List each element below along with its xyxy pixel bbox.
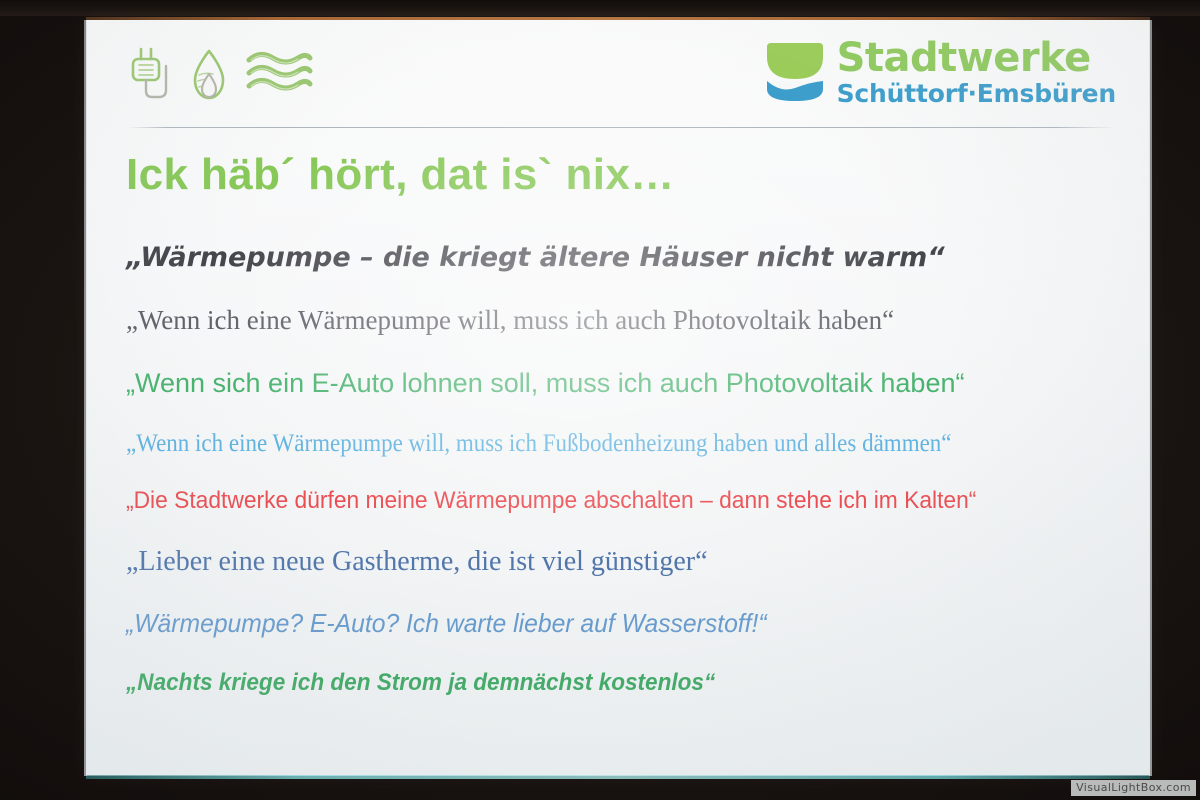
logo-title: Stadtwerke: [837, 38, 1116, 78]
utility-icon-row: [128, 46, 316, 111]
quote-line: „Wenn ich eine Wärmepumpe will, muss ich…: [126, 430, 1050, 458]
stadtwerke-logo-text: Stadtwerke Schüttorf·Emsbüren: [837, 38, 1116, 106]
slide-title: Ick häb´ hört, dat is` nix…: [126, 150, 675, 200]
quote-line: „Wenn sich ein E-Auto lohnen soll, muss …: [126, 368, 1130, 399]
quote-list: „Wärmepumpe – die kriegt ältere Häuser n…: [126, 242, 1130, 697]
quote-line: „Wärmepumpe? E-Auto? Ich warte lieber au…: [126, 608, 1080, 639]
stadtwerke-logo: Stadtwerke Schüttorf·Emsbüren: [765, 38, 1116, 106]
projection-photo: Stadtwerke Schüttorf·Emsbüren Ick häb´ h…: [0, 0, 1200, 800]
power-plug-icon: [128, 46, 174, 111]
watermark: VisualLightBox.com: [1071, 780, 1196, 796]
water-waves-icon: [244, 47, 316, 110]
slide-content: Stadtwerke Schüttorf·Emsbüren Ick häb´ h…: [86, 20, 1150, 776]
quote-line: „Wenn ich eine Wärmepumpe will, muss ich…: [126, 305, 1130, 336]
quote-line: „Die Stadtwerke dürfen meine Wärmepumpe …: [126, 487, 1080, 515]
logo-subtitle: Schüttorf·Emsbüren: [837, 81, 1116, 106]
quote-line: „Nachts kriege ich den Strom ja demnächs…: [126, 669, 1070, 697]
stadtwerke-bowl-wave-logo: [765, 41, 825, 103]
quote-line: „Lieber eine neue Gastherme, die ist vie…: [126, 546, 1130, 578]
presentation-slide: Stadtwerke Schüttorf·Emsbüren Ick häb´ h…: [86, 20, 1150, 776]
quote-line: „Wärmepumpe – die kriegt ältere Häuser n…: [126, 242, 1130, 273]
screen-frame-top: [0, 0, 1200, 16]
gas-flame-droplet-icon: [188, 47, 230, 110]
slide-header: Stadtwerke Schüttorf·Emsbüren: [128, 36, 1116, 122]
header-divider-rule: [128, 127, 1116, 128]
